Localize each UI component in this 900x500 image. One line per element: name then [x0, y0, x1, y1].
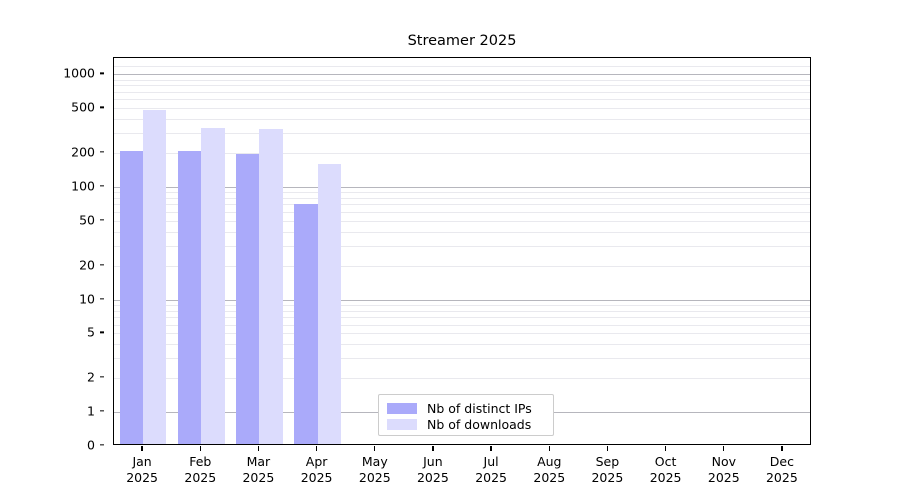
gridline: [114, 85, 810, 86]
bar[interactable]: [236, 154, 259, 444]
plot-area: [113, 57, 811, 445]
x-tick-mark: [141, 446, 142, 451]
x-tick-month: Dec: [747, 454, 817, 470]
x-tick-mark: [665, 446, 666, 451]
chart-figure: Streamer 2025 01251020501002005001000 Ja…: [0, 0, 900, 500]
y-axis: 01251020501002005001000: [0, 57, 113, 446]
bar[interactable]: [143, 110, 166, 444]
x-tick-mark: [549, 446, 550, 451]
y-tick-mark: [100, 264, 105, 265]
y-tick-label: 20: [79, 257, 95, 272]
bar[interactable]: [201, 128, 224, 444]
x-tick-mark: [258, 446, 259, 451]
gridline: [114, 108, 810, 109]
y-tick-label: 500: [71, 100, 95, 115]
y-tick-label: 100: [71, 179, 95, 194]
gridline: [114, 80, 810, 81]
gridline: [114, 92, 810, 93]
bar[interactable]: [259, 129, 282, 444]
gridline: [114, 99, 810, 100]
legend-item[interactable]: Nb of downloads: [387, 416, 545, 432]
x-tick-label: Dec2025: [747, 454, 817, 485]
y-tick-mark: [100, 332, 105, 333]
chart-title: Streamer 2025: [113, 32, 811, 50]
x-tick-mark: [432, 446, 433, 451]
y-tick-label: 5: [87, 325, 95, 340]
x-tick-year: 2025: [747, 470, 817, 486]
x-axis: Jan2025Feb2025Mar2025Apr2025May2025Jun20…: [0, 446, 900, 500]
y-tick-mark: [100, 107, 105, 108]
y-tick-mark: [100, 219, 105, 220]
y-tick-mark: [100, 298, 105, 299]
y-tick-label: 1: [87, 404, 95, 419]
y-tick-mark: [100, 185, 105, 186]
gridline: [114, 74, 810, 75]
y-tick-mark: [100, 151, 105, 152]
gridline: [114, 119, 810, 120]
bar[interactable]: [120, 151, 143, 444]
chart-legend: Nb of distinct IPs Nb of downloads: [378, 394, 554, 436]
x-tick-mark: [316, 446, 317, 451]
gridline: [114, 66, 810, 67]
y-tick-mark: [100, 410, 105, 411]
y-tick-label: 2: [87, 370, 95, 385]
bar[interactable]: [294, 204, 317, 444]
x-tick-mark: [723, 446, 724, 451]
y-tick-mark: [100, 73, 105, 74]
legend-label-downloads: Nb of downloads: [427, 417, 531, 432]
legend-swatch-distinct-ips: [387, 403, 417, 414]
x-tick-mark: [374, 446, 375, 451]
legend-swatch-downloads: [387, 419, 417, 430]
y-tick-label: 10: [79, 291, 95, 306]
y-tick-label: 1000: [63, 66, 95, 81]
x-tick-mark: [781, 446, 782, 451]
bar[interactable]: [318, 164, 341, 444]
x-tick-mark: [607, 446, 608, 451]
legend-item[interactable]: Nb of distinct IPs: [387, 400, 545, 416]
bar[interactable]: [178, 151, 201, 444]
x-tick-mark: [490, 446, 491, 451]
y-tick-mark: [100, 377, 105, 378]
y-tick-label: 50: [79, 212, 95, 227]
legend-label-distinct-ips: Nb of distinct IPs: [427, 401, 532, 416]
y-tick-label: 200: [71, 145, 95, 160]
x-tick-mark: [200, 446, 201, 451]
